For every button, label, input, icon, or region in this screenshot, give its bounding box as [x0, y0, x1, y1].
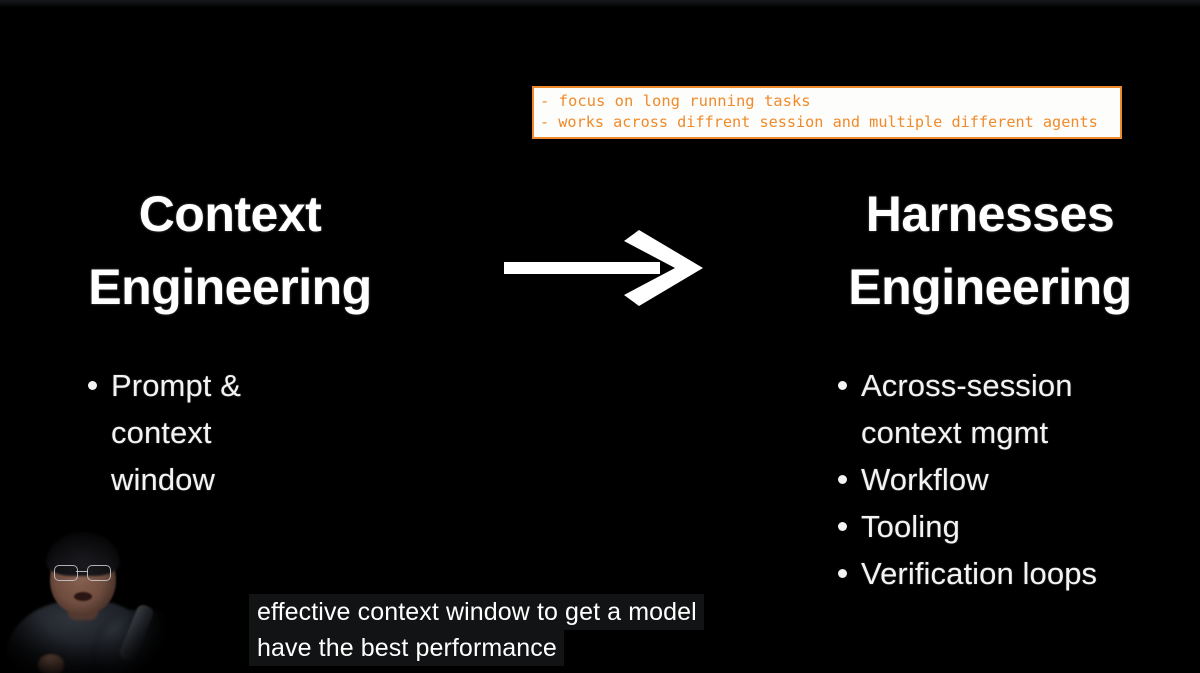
right-column: Harnesses Engineering: [790, 178, 1190, 324]
right-heading-line-1: Harnesses: [790, 178, 1190, 251]
caption-line-2: have the best performance: [249, 630, 564, 666]
right-heading-line-2: Engineering: [790, 251, 1190, 324]
list-item: Workflow: [838, 456, 1178, 503]
bullet-text: Verification loops: [861, 550, 1097, 597]
left-column: Context Engineering: [20, 178, 440, 324]
left-column-heading: Context Engineering: [20, 178, 440, 324]
annotation-callout: - focus on long running tasks - works ac…: [532, 86, 1122, 139]
left-heading-line-1: Context: [20, 178, 440, 251]
bullet-dot-icon: [88, 381, 97, 390]
presenter-webcam-overlay: [0, 518, 172, 673]
annotation-line-1: - focus on long running tasks: [540, 91, 1116, 112]
left-column-bullet-list: Prompt & context window: [88, 362, 418, 503]
caption-subtitle: effective context window to get a model …: [249, 594, 704, 666]
frame-top-edge: [0, 0, 1200, 7]
annotation-line-2: - works across diffrent session and mult…: [540, 112, 1116, 133]
slide-canvas: - focus on long running tasks - works ac…: [0, 0, 1200, 673]
list-item: Across-session context mgmt: [838, 362, 1178, 456]
right-column-heading: Harnesses Engineering: [790, 178, 1190, 324]
left-heading-line-2: Engineering: [20, 251, 440, 324]
caption-line-1: effective context window to get a model: [249, 594, 704, 630]
bullet-text: Workflow: [861, 456, 989, 503]
bullet-dot-icon: [838, 522, 847, 531]
bullet-dot-icon: [838, 569, 847, 578]
bullet-dot-icon: [838, 475, 847, 484]
bullet-text: Across-session context mgmt: [861, 362, 1121, 456]
right-column-bullet-list: Across-session context mgmt Workflow Too…: [838, 362, 1178, 597]
bullet-dot-icon: [838, 381, 847, 390]
list-item: Verification loops: [838, 550, 1178, 597]
bullet-text: Prompt & context window: [111, 362, 311, 503]
bullet-text: Tooling: [861, 503, 960, 550]
right-arrow-icon: [500, 228, 710, 308]
list-item: Prompt & context window: [88, 362, 418, 503]
webcam-vignette: [0, 518, 172, 673]
list-item: Tooling: [838, 503, 1178, 550]
